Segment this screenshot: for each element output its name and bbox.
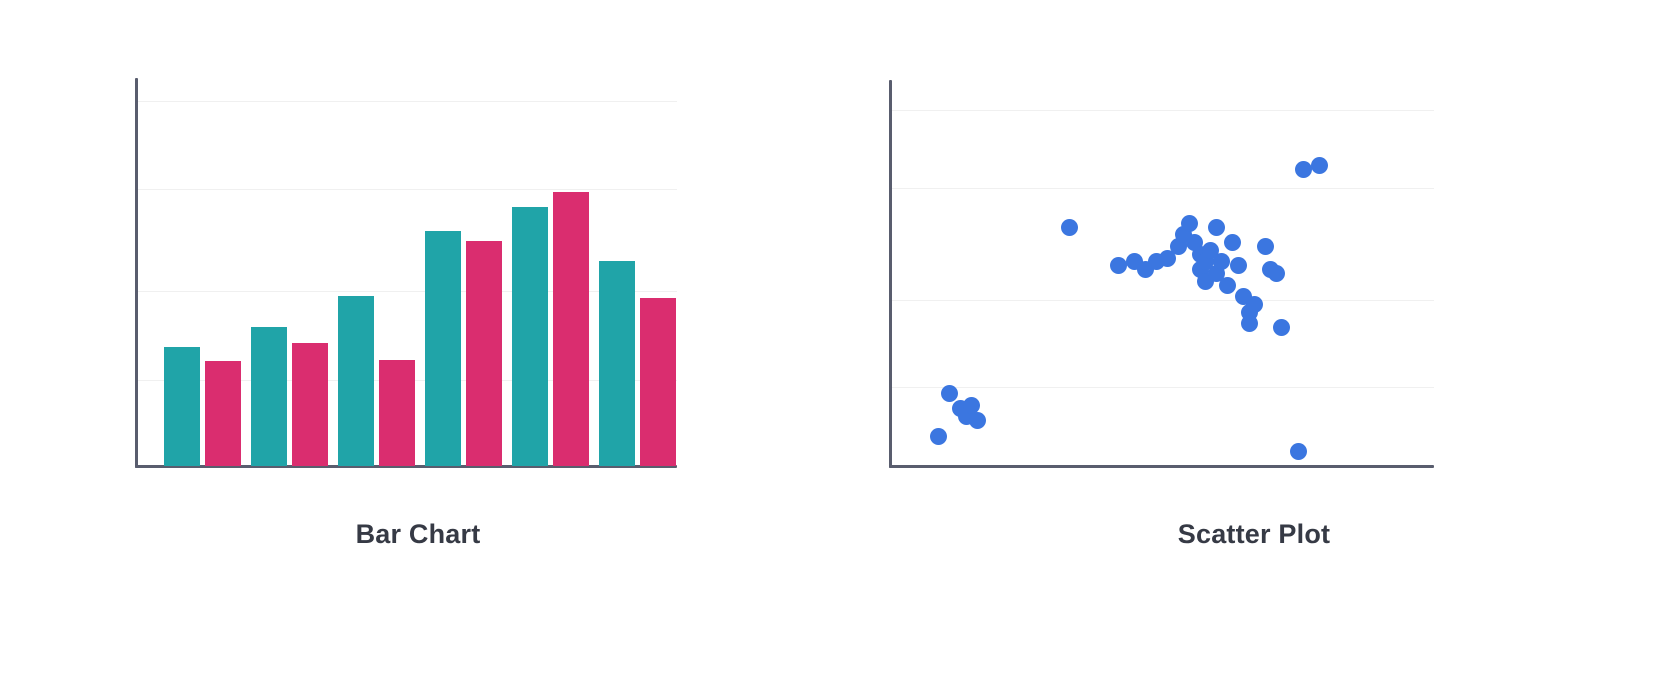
bar-group-4-series-b [466, 241, 502, 466]
scatter-plot-caption: Scatter Plot [836, 512, 1672, 556]
scatter-point [1290, 443, 1307, 460]
scatter-point [1273, 319, 1290, 336]
scatter-point [1230, 257, 1247, 274]
scatter-point [1311, 157, 1328, 174]
bar-chart-bars [136, 78, 677, 466]
scatter-point [1246, 296, 1263, 313]
scatter-point [1213, 253, 1230, 270]
scatter-point [1268, 265, 1285, 282]
scatter-plot-panel: Scatter Plot [836, 0, 1672, 678]
scatter-point [1241, 315, 1258, 332]
bar-group-5-series-a [512, 207, 548, 466]
bar-group-2-series-a [251, 327, 287, 466]
scatter-point [969, 412, 986, 429]
scatter-plot-points [890, 80, 1434, 467]
scatter-point [941, 385, 958, 402]
bar-chart-caption: Bar Chart [0, 512, 836, 556]
bar-group-3-series-a [338, 296, 374, 466]
scatter-point [963, 397, 980, 414]
bar-group-2-series-b [292, 343, 328, 466]
bar-chart-panel: Bar Chart [0, 0, 836, 678]
scatter-point [1181, 215, 1198, 232]
scatter-point [1061, 219, 1078, 236]
bar-group-6-series-b [640, 298, 676, 466]
scatter-point [1257, 238, 1274, 255]
scatter-point [1295, 161, 1312, 178]
scatter-point [930, 428, 947, 445]
bar-group-3-series-b [379, 360, 415, 466]
bar-group-5-series-b [553, 192, 589, 466]
bar-group-1-series-a [164, 347, 200, 466]
scatter-point [1208, 219, 1225, 236]
bar-group-6-series-a [599, 261, 635, 466]
scatter-point [1110, 257, 1127, 274]
scatter-point [1219, 277, 1236, 294]
bar-group-4-series-a [425, 231, 461, 466]
scatter-point [1224, 234, 1241, 251]
figure-root: Bar Chart Scatter Plot [0, 0, 1672, 678]
bar-group-1-series-b [205, 361, 241, 466]
